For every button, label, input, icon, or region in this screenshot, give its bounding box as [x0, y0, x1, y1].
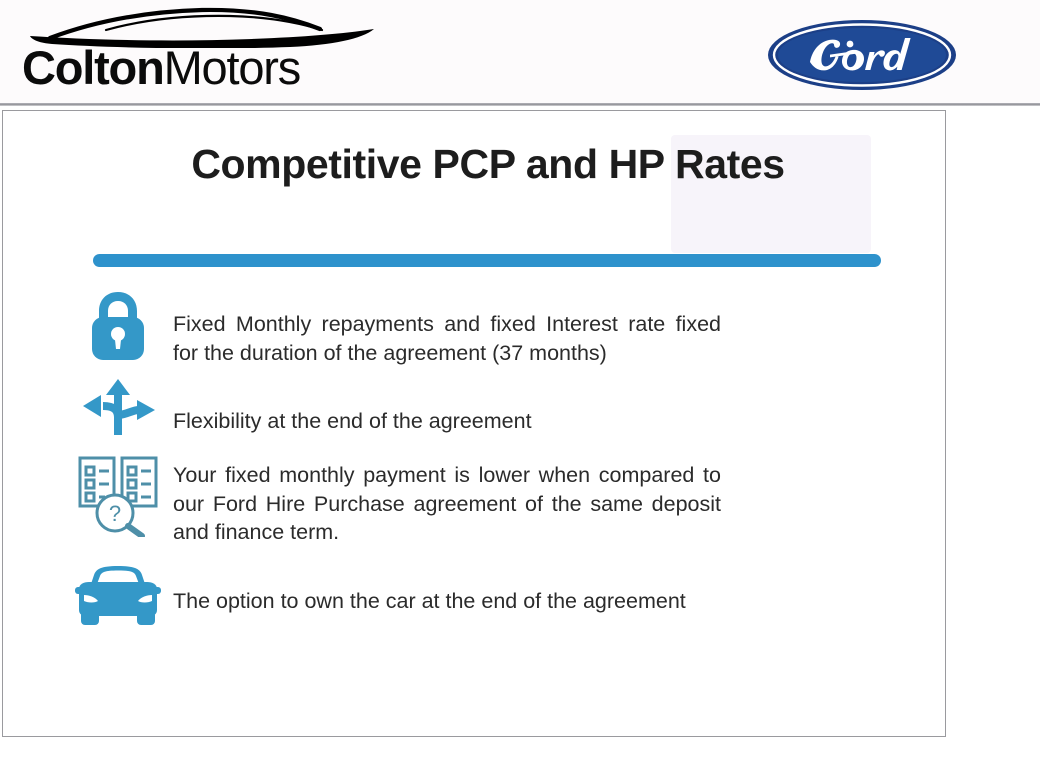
promo-card: Competitive PCP and HP Rates Fixed Month…: [2, 110, 946, 737]
title-accent-rule: [93, 254, 881, 267]
list-item: Flexibility at the end of the agreement: [3, 377, 946, 439]
colton-text: Colton: [22, 41, 164, 94]
bullet-icon-wrap: ?: [3, 449, 173, 537]
svg-text:?: ?: [109, 501, 121, 526]
list-item: The option to own the car at the end of …: [3, 565, 946, 627]
bullet-icon-wrap: [3, 288, 173, 362]
page-title: Competitive PCP and HP Rates: [93, 137, 883, 191]
three-way-arrows-icon: [77, 377, 159, 439]
ford-oval-icon: [766, 18, 958, 92]
benefits-list: Fixed Monthly repayments and fixed Inter…: [3, 286, 946, 637]
page-header: ColtonMotors: [0, 0, 1040, 105]
bullet-icon-wrap: [3, 565, 173, 627]
padlock-icon: [85, 288, 151, 362]
colton-motors-wordmark: ColtonMotors: [22, 38, 382, 98]
header-divider: [0, 103, 1040, 106]
list-item: ? Your fixed monthly payment is lower wh…: [3, 449, 946, 547]
list-item-text: Flexibility at the end of the agreement: [173, 377, 761, 436]
motors-text: Motors: [164, 41, 300, 94]
bullet-icon-wrap: [3, 377, 173, 439]
car-front-icon: [75, 565, 161, 627]
list-item-text: Your fixed monthly payment is lower when…: [173, 449, 761, 547]
list-item-text: Fixed Monthly repayments and fixed Inter…: [173, 288, 761, 367]
list-item: Fixed Monthly repayments and fixed Inter…: [3, 288, 946, 367]
list-item-text: The option to own the car at the end of …: [173, 565, 761, 616]
documents-magnifier-question-icon: ?: [74, 449, 162, 537]
colton-motors-logo: ColtonMotors: [22, 6, 382, 98]
